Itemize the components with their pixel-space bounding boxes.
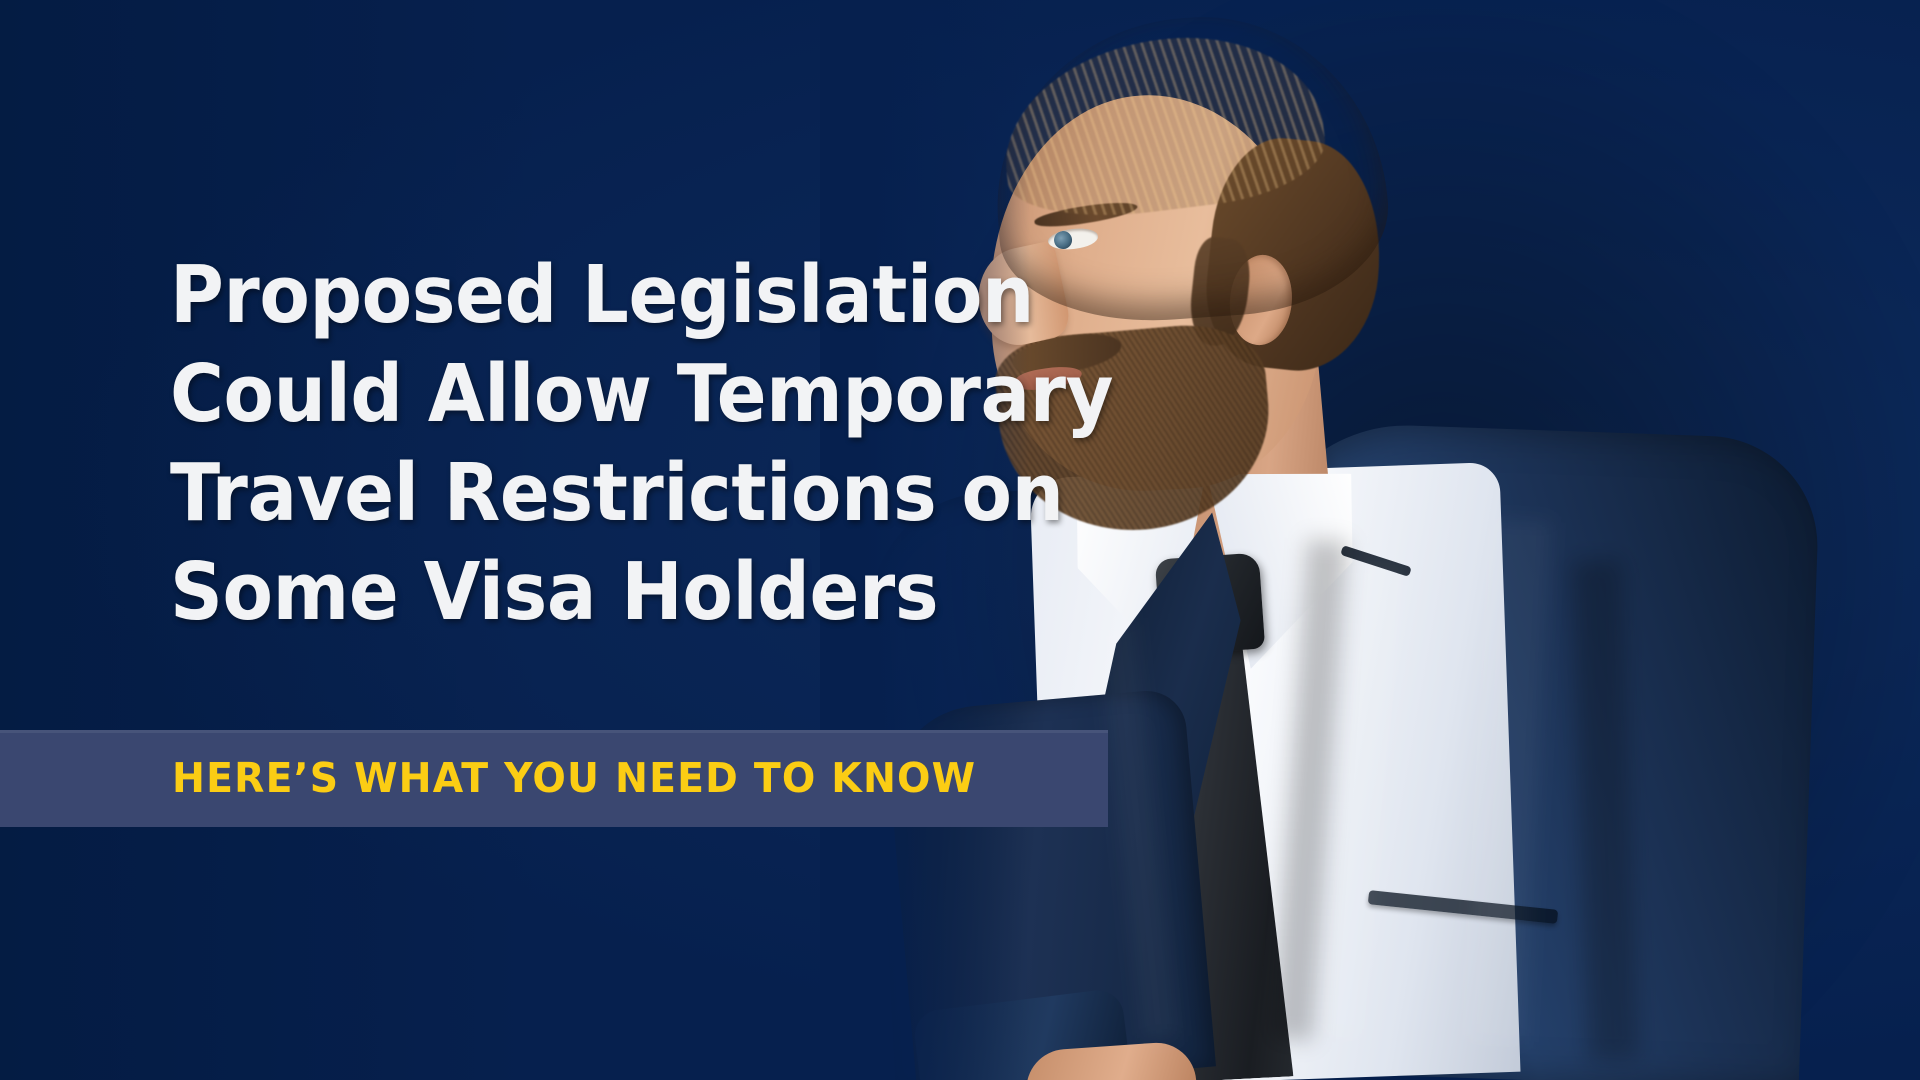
subheadline: HERE’S WHAT YOU NEED TO KNOW	[172, 752, 976, 804]
banner-graphic: Proposed Legislation Could Allow Tempora…	[0, 0, 1920, 1080]
headline: Proposed Legislation Could Allow Tempora…	[170, 246, 1119, 642]
subheadline-band-top-edge	[0, 730, 1108, 733]
